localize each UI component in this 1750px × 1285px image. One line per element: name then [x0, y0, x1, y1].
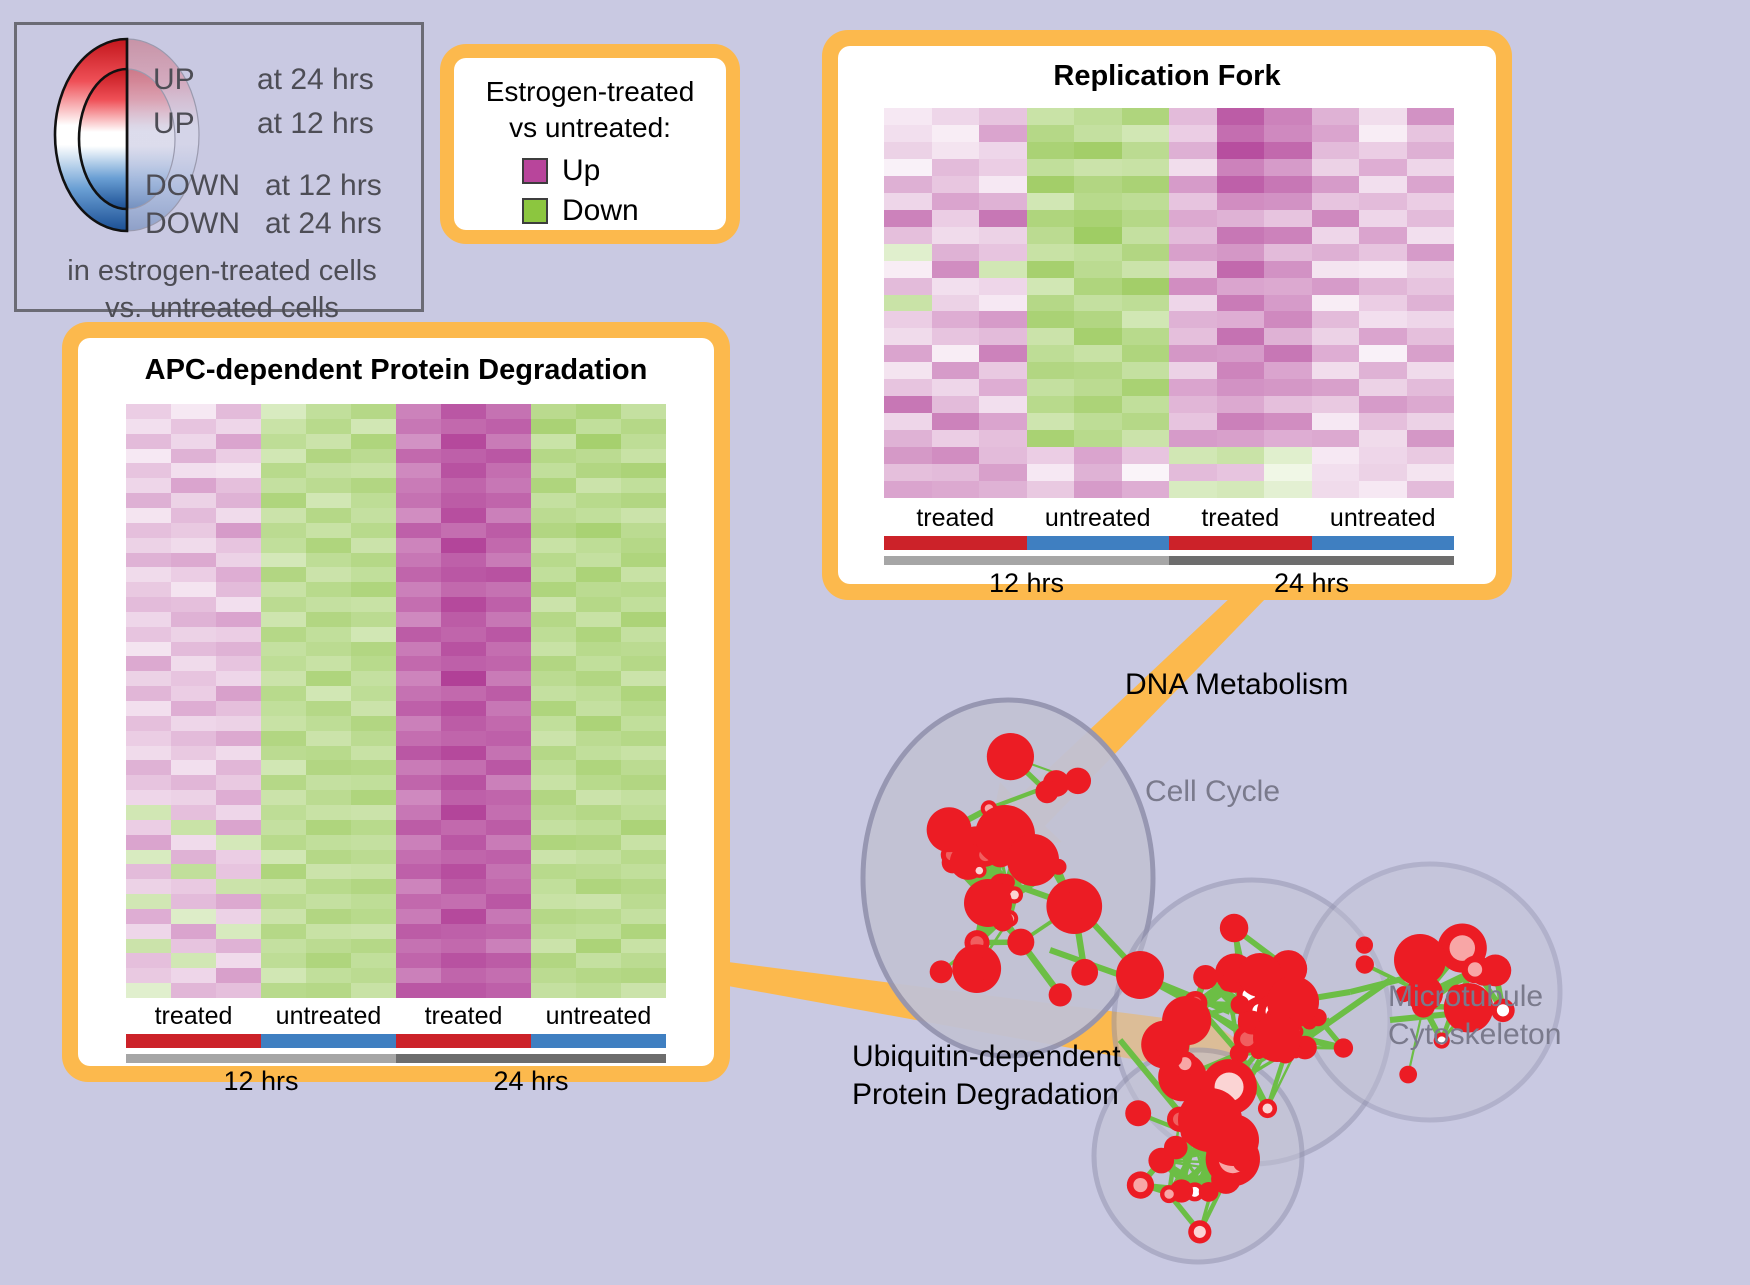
heatmap-cell [396, 909, 441, 924]
heatmap-cell [1169, 362, 1217, 379]
time-label: 24 hrs [1169, 568, 1454, 599]
network-node[interactable] [1148, 1148, 1174, 1174]
heatmap-cell [1074, 362, 1122, 379]
heatmap-cell [171, 909, 216, 924]
heatmap-cell [1027, 345, 1075, 362]
network-node[interactable] [927, 807, 972, 852]
heatmap-cell [396, 775, 441, 790]
legend-key-box: UP at 24 hrs UP at 12 hrs DOWN at 12 hrs… [14, 22, 424, 312]
network-node[interactable] [1035, 780, 1058, 803]
network-node[interactable] [1356, 955, 1374, 973]
heatmap-cell [1074, 159, 1122, 176]
heatmap-cell [884, 311, 932, 328]
heatmap-cell [1217, 210, 1265, 227]
heatmap-cell [531, 939, 576, 954]
heatmap-cell [932, 278, 980, 295]
heatmap-cell [1217, 379, 1265, 396]
heatmap-cell [1312, 396, 1360, 413]
heatmap-cell [1217, 261, 1265, 278]
heatmap-cell [396, 478, 441, 493]
heatmap-cell [126, 835, 171, 850]
heatmap-cell [1312, 430, 1360, 447]
heatmap-cell [884, 362, 932, 379]
heatmap-cell [1074, 464, 1122, 481]
heatmap-cell [1122, 193, 1170, 210]
heatmap-cell [261, 775, 306, 790]
heatmap-cell [1027, 108, 1075, 125]
heatmap-cell [1359, 481, 1407, 498]
heatmap-cell [1407, 125, 1455, 142]
network-node-core[interactable] [1263, 1104, 1273, 1114]
network-node[interactable] [1334, 1038, 1353, 1057]
heatmap-cell [351, 434, 396, 449]
heatmap-cell [576, 850, 621, 865]
network-node-core[interactable] [964, 956, 989, 981]
network-node[interactable] [1007, 834, 1059, 886]
heatmap-cell [1169, 176, 1217, 193]
heatmap-cell [441, 775, 486, 790]
heatmap-cell [1264, 125, 1312, 142]
heatmap-cell [1122, 176, 1170, 193]
heatmap-cell [576, 939, 621, 954]
time-color-segment [884, 556, 1169, 565]
heatmap-cell [441, 523, 486, 538]
heatmap-cell [351, 775, 396, 790]
heatmap-cell [621, 567, 666, 582]
network-node[interactable] [1193, 965, 1218, 990]
heatmap-cell [171, 612, 216, 627]
heatmap-cell [1217, 227, 1265, 244]
heatmap-cell [261, 894, 306, 909]
network-node[interactable] [1253, 1014, 1301, 1062]
heatmap-cell [1169, 125, 1217, 142]
network-node-core[interactable] [1133, 1178, 1147, 1192]
heatmap-cell [884, 345, 932, 362]
heatmap-cell [531, 864, 576, 879]
heatmap-cell [216, 968, 261, 983]
sample-color-segment [126, 1034, 261, 1048]
heatmap-cell [441, 597, 486, 612]
heatmap-cell [1407, 210, 1455, 227]
heatmap-cell [531, 463, 576, 478]
heatmap-cell [306, 508, 351, 523]
heatmap-cell [261, 553, 306, 568]
heatmap-cell [1169, 464, 1217, 481]
heatmap-cell [1264, 142, 1312, 159]
heatmap-cell [216, 820, 261, 835]
heatmap-cell [1359, 108, 1407, 125]
heatmap-cell [576, 775, 621, 790]
network-node[interactable] [1219, 974, 1236, 991]
heatmap-cell [261, 671, 306, 686]
heatmap-cell [261, 656, 306, 671]
heatmap-cell [884, 447, 932, 464]
heatmap-cell [126, 760, 171, 775]
heatmap-cell [621, 463, 666, 478]
heatmap-cell [351, 909, 396, 924]
heatmap-cell [441, 820, 486, 835]
heatmap-cell [1074, 430, 1122, 447]
cluster-label-dna-metabolism: DNA Metabolism [1125, 668, 1348, 702]
heatmap-cell [261, 746, 306, 761]
heatmap-cell [351, 478, 396, 493]
heatmap-cell [216, 538, 261, 553]
heatmap-cell [531, 686, 576, 701]
heatmap-cell [621, 493, 666, 508]
sample-label: untreated [1027, 504, 1170, 533]
network-node-core[interactable] [976, 867, 984, 875]
heatmap-cell [396, 642, 441, 657]
heatmap-cell [621, 642, 666, 657]
heatmap-cell [126, 983, 171, 998]
heatmap-cell [441, 953, 486, 968]
heatmap-cell [1359, 362, 1407, 379]
heatmap-cell [171, 850, 216, 865]
heatmap-cell [884, 379, 932, 396]
heatmap-cell [306, 775, 351, 790]
heatmap-cell [441, 419, 486, 434]
heatmap-cell [171, 508, 216, 523]
heatmap-cell [1027, 430, 1075, 447]
heatmap-cell [261, 731, 306, 746]
heatmap-cell [932, 210, 980, 227]
heatmap-cell [261, 983, 306, 998]
heatmap-cell [306, 553, 351, 568]
heatmap-cell [621, 731, 666, 746]
heatmap-cell [441, 894, 486, 909]
heatmap-cell [441, 746, 486, 761]
heatmap-cell [396, 419, 441, 434]
heatmap-cell [126, 879, 171, 894]
heatmap-cell [351, 493, 396, 508]
heatmap-cell [979, 396, 1027, 413]
heatmap-cell [441, 760, 486, 775]
heatmap-cell [621, 850, 666, 865]
heatmap-cell [216, 805, 261, 820]
heatmap-cell [1217, 481, 1265, 498]
heatmap-cell [1169, 278, 1217, 295]
heatmap-cell [621, 553, 666, 568]
key-suffix-up-24: at 24 hrs [257, 65, 374, 95]
heatmap-cell [441, 538, 486, 553]
heatmap-cell [576, 493, 621, 508]
heatmap-cell [1217, 464, 1265, 481]
heatmap-cell [441, 835, 486, 850]
heatmap-cell [932, 244, 980, 261]
heatmap-cell [979, 142, 1027, 159]
heatmap-cell [1074, 345, 1122, 362]
heatmap-cell [1264, 278, 1312, 295]
heatmap-cell [306, 434, 351, 449]
heatmap-cell [306, 953, 351, 968]
heatmap-cell [441, 968, 486, 983]
heatmap-cell [216, 701, 261, 716]
heatmap-cell [1264, 176, 1312, 193]
heatmap-cell [979, 244, 1027, 261]
heatmap-cell [396, 508, 441, 523]
heatmap-cell [884, 125, 932, 142]
heatmap-cell [1169, 261, 1217, 278]
heatmap-cell [576, 612, 621, 627]
updown-legend-panel: Estrogen-treated vs untreated: Up Down [440, 44, 740, 244]
heatmap-cell [1359, 244, 1407, 261]
heatmap-cell [576, 538, 621, 553]
heatmap-cell [932, 430, 980, 447]
heatmap-cell [1122, 362, 1170, 379]
heatmap-cell [441, 642, 486, 657]
heatmap-cell [486, 968, 531, 983]
heatmap-cell [486, 760, 531, 775]
heatmap-cell [932, 396, 980, 413]
heatmap-cell [486, 404, 531, 419]
network-node[interactable] [1065, 768, 1091, 794]
heatmap-cell [1122, 142, 1170, 159]
heatmap-cell [486, 656, 531, 671]
heatmap-cell [306, 983, 351, 998]
heatmap-cell [621, 790, 666, 805]
heatmap-cell [171, 523, 216, 538]
heatmap-cell [979, 328, 1027, 345]
heatmap-cell [1122, 278, 1170, 295]
heatmap-cell [576, 523, 621, 538]
heatmap-cell [1027, 413, 1075, 430]
heatmap-cell [1312, 345, 1360, 362]
heatmap-cell [531, 508, 576, 523]
heatmap-cell [1122, 244, 1170, 261]
heatmap-cell [1074, 210, 1122, 227]
heatmap-cell [1027, 311, 1075, 328]
heatmap-cell [486, 567, 531, 582]
heatmap-cell [1359, 447, 1407, 464]
network-node[interactable] [1394, 934, 1446, 986]
heatmap-cell [396, 820, 441, 835]
heatmap-cell [1074, 125, 1122, 142]
heatmap-cell [576, 449, 621, 464]
time-label: 12 hrs [126, 1066, 396, 1097]
heatmap-cell [126, 968, 171, 983]
heatmap-cell [216, 879, 261, 894]
network-node[interactable] [987, 733, 1034, 780]
apc-sample-labels: treateduntreatedtreateduntreated [126, 1002, 666, 1031]
heatmap-cell [216, 553, 261, 568]
heatmap-cell [126, 790, 171, 805]
heatmap-cell [621, 434, 666, 449]
heatmap-cell [351, 612, 396, 627]
heatmap-cell [486, 508, 531, 523]
heatmap-cell [1122, 125, 1170, 142]
heatmap-cell [396, 582, 441, 597]
cluster-label-ubiquitin-line1: Ubiquitin-dependent [852, 1040, 1121, 1074]
heatmap-cell [531, 567, 576, 582]
heatmap-cell [576, 894, 621, 909]
network-node[interactable] [1207, 1114, 1259, 1166]
heatmap-cell [1359, 227, 1407, 244]
sample-color-segment [884, 536, 1027, 550]
heatmap-cell [126, 716, 171, 731]
heatmap-cell [486, 612, 531, 627]
heatmap-cell [351, 642, 396, 657]
heatmap-cell [979, 210, 1027, 227]
replication-fork-time-colorbar [884, 556, 1454, 565]
replication-fork-time-labels: 12 hrs24 hrs [884, 568, 1454, 599]
network-node[interactable] [1162, 996, 1211, 1045]
heatmap-cell [884, 261, 932, 278]
heatmap-cell [531, 790, 576, 805]
heatmap-cell [396, 656, 441, 671]
heatmap-cell [396, 760, 441, 775]
heatmap-cell [1217, 430, 1265, 447]
network-node-core[interactable] [1468, 962, 1482, 976]
heatmap-cell [171, 656, 216, 671]
heatmap-cell [441, 790, 486, 805]
heatmap-cell [126, 434, 171, 449]
heatmap-cell [932, 261, 980, 278]
heatmap-cell [396, 968, 441, 983]
heatmap-cell [1027, 481, 1075, 498]
heatmap-cell [216, 463, 261, 478]
heatmap-cell [576, 864, 621, 879]
heatmap-cell [1027, 193, 1075, 210]
network-node[interactable] [1116, 951, 1164, 999]
heatmap-cell [306, 686, 351, 701]
heatmap-cell [441, 656, 486, 671]
heatmap-cell [1312, 142, 1360, 159]
heatmap-cell [171, 701, 216, 716]
network-node-core[interactable] [1060, 892, 1089, 921]
heatmap-cell [621, 671, 666, 686]
heatmap-cell [1407, 464, 1455, 481]
network-node[interactable] [1071, 959, 1098, 986]
sample-color-segment [261, 1034, 396, 1048]
heatmap-cell [621, 924, 666, 939]
heatmap-cell [531, 850, 576, 865]
heatmap-cell [306, 716, 351, 731]
updown-legend-inner: Estrogen-treated vs untreated: Up Down [454, 58, 726, 230]
network-node[interactable] [1399, 1066, 1417, 1084]
network-node-core[interactable] [1164, 1189, 1173, 1198]
heatmap-cell [441, 850, 486, 865]
heatmap-cell [1074, 261, 1122, 278]
heatmap-cell [486, 953, 531, 968]
time-color-segment [126, 1054, 396, 1063]
heatmap-cell [1217, 345, 1265, 362]
heatmap-cell [306, 671, 351, 686]
heatmap-cell [171, 953, 216, 968]
heatmap-cell [531, 716, 576, 731]
heatmap-cell [126, 671, 171, 686]
heatmap-cell [1312, 210, 1360, 227]
heatmap-cell [486, 671, 531, 686]
network-node[interactable] [1049, 983, 1072, 1006]
network-node[interactable] [1165, 1049, 1183, 1067]
network-node-core[interactable] [1360, 941, 1369, 950]
network-node[interactable] [1125, 1100, 1151, 1126]
network-node[interactable] [1007, 929, 1034, 956]
network-node[interactable] [964, 879, 1012, 927]
updown-legend-items: Up Down [522, 154, 639, 234]
heatmap-cell [351, 597, 396, 612]
heatmap-cell [261, 879, 306, 894]
heatmap-cell [1169, 193, 1217, 210]
heatmap-cell [306, 835, 351, 850]
heatmap-cell [884, 108, 932, 125]
heatmap-cell [216, 790, 261, 805]
heatmap-cell [1169, 295, 1217, 312]
network-node-core[interactable] [1194, 1226, 1206, 1238]
heatmap-cell [351, 582, 396, 597]
heatmap-cell [1264, 210, 1312, 227]
heatmap-cell [1407, 311, 1455, 328]
heatmap-cell [1312, 244, 1360, 261]
heatmap-cell [576, 478, 621, 493]
heatmap-cell [486, 983, 531, 998]
heatmap-cell [932, 311, 980, 328]
heatmap-cell [306, 627, 351, 642]
heatmap-cell [1264, 396, 1312, 413]
heatmap-cell [171, 716, 216, 731]
heatmap-cell [576, 716, 621, 731]
network-node[interactable] [1231, 995, 1250, 1014]
heatmap-cell [621, 909, 666, 924]
heatmap-cell [171, 671, 216, 686]
heatmap-cell [1169, 210, 1217, 227]
heatmap-cell [576, 953, 621, 968]
heatmap-cell [1407, 430, 1455, 447]
heatmap-cell [1264, 244, 1312, 261]
heatmap-cell [1027, 176, 1075, 193]
apc-heatmap [126, 404, 666, 998]
heatmap-cell [1359, 345, 1407, 362]
heatmap-cell [126, 478, 171, 493]
heatmap-cell [126, 508, 171, 523]
heatmap-cell [126, 775, 171, 790]
heatmap-cell [531, 924, 576, 939]
network-node[interactable] [1220, 914, 1249, 943]
heatmap-cell [261, 449, 306, 464]
heatmap-cell [216, 523, 261, 538]
heatmap-cell [531, 553, 576, 568]
heatmap-cell [306, 567, 351, 582]
heatmap-cell [351, 953, 396, 968]
heatmap-cell [1264, 328, 1312, 345]
heatmap-cell [1359, 210, 1407, 227]
heatmap-cell [441, 939, 486, 954]
cluster-label-cell-cycle: Cell Cycle [1145, 775, 1280, 809]
sample-label: untreated [261, 1002, 396, 1031]
heatmap-cell [884, 142, 932, 159]
heatmap-cell [171, 864, 216, 879]
heatmap-cell [1359, 125, 1407, 142]
heatmap-cell [396, 864, 441, 879]
heatmap-cell [1407, 413, 1455, 430]
heatmap-cell [932, 159, 980, 176]
heatmap-cell [1074, 295, 1122, 312]
heatmap-cell [531, 538, 576, 553]
heatmap-cell [261, 968, 306, 983]
heatmap-cell [1312, 176, 1360, 193]
heatmap-cell [306, 820, 351, 835]
heatmap-cell [979, 176, 1027, 193]
network-node-core[interactable] [935, 966, 947, 978]
heatmap-cell [171, 493, 216, 508]
heatmap-cell [979, 362, 1027, 379]
heatmap-cell [261, 760, 306, 775]
heatmap-cell [486, 642, 531, 657]
heatmap-cell [126, 493, 171, 508]
heatmap-cell [261, 597, 306, 612]
heatmap-cell [621, 805, 666, 820]
heatmap-cell [396, 939, 441, 954]
